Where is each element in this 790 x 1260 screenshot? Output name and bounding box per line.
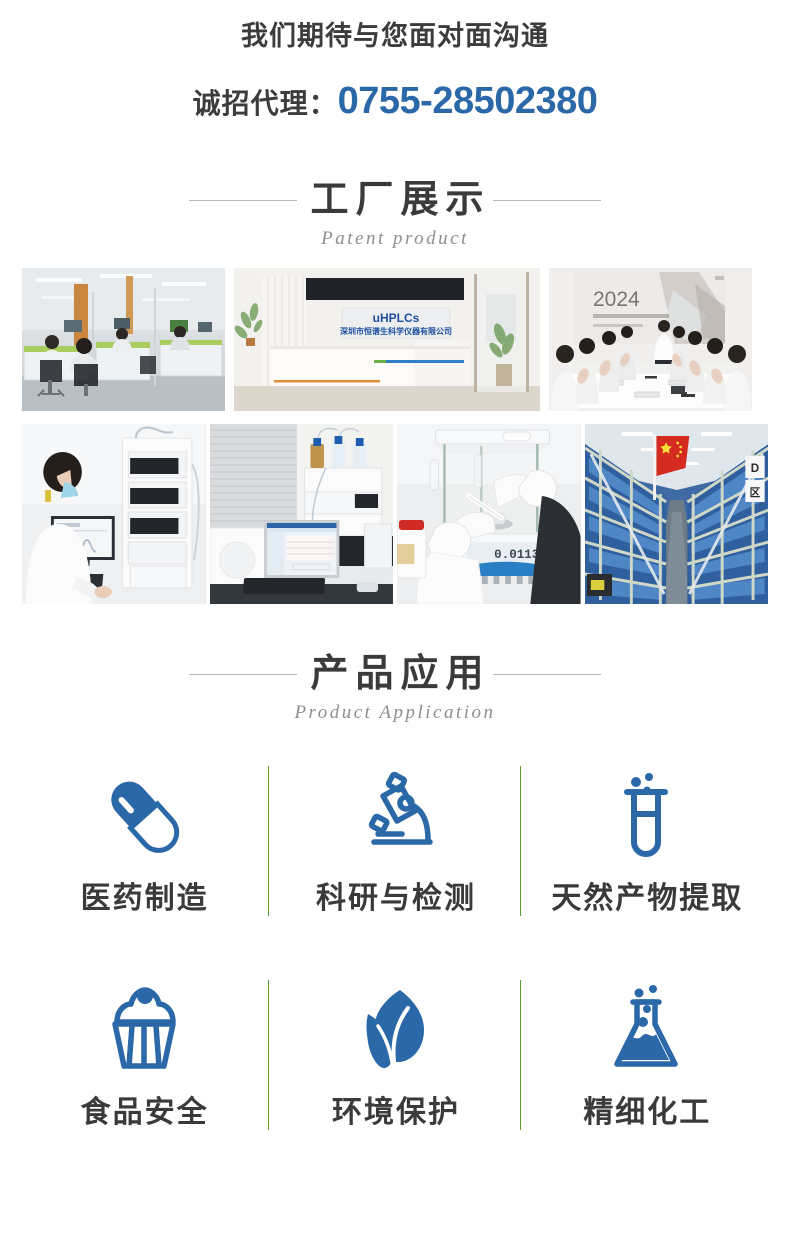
- factory-photo-grid: uHPLCs 深圳市恒谱生科学仪器有限公司: [0, 268, 790, 604]
- app-title-rule-right: [493, 674, 601, 675]
- application-item-natural-extraction[interactable]: 天然产物提取: [521, 760, 772, 918]
- application-item-fine-chemicals[interactable]: 精细化工: [521, 974, 772, 1132]
- photo-technician-operating-hplc-system[interactable]: [22, 424, 206, 604]
- title-rule-right: [493, 200, 601, 201]
- photo-hplc-workstation-with-monitor[interactable]: [210, 424, 394, 604]
- application-item-pharmaceutical[interactable]: 医药制造: [18, 760, 269, 918]
- application-item-food-safety[interactable]: 食品安全: [18, 974, 269, 1132]
- factory-title-cn: 工厂展示: [303, 176, 490, 224]
- application-section-title: 产品应用 Product Application: [0, 650, 790, 724]
- application-grid: 医药制造: [0, 760, 790, 1132]
- factory-title-en: Patent product: [0, 228, 790, 250]
- photo-company-reception-lobby[interactable]: uHPLCs 深圳市恒谱生科学仪器有限公司: [234, 268, 540, 411]
- phone-number[interactable]: 0755-28502380: [338, 80, 598, 122]
- photo-conference-room-meeting-2024[interactable]: 2024: [549, 268, 752, 411]
- photo-analytical-balance-weighing[interactable]: 0.0113: [397, 424, 581, 604]
- leaf-icon: [269, 982, 520, 1078]
- application-label: 医药制造: [18, 880, 269, 918]
- page-root: 我们期待与您面对面沟通 诚招代理：0755-28502380 工厂展示 Pate…: [0, 0, 790, 1260]
- application-row-1: 医药制造: [18, 760, 772, 918]
- application-item-environmental-protection[interactable]: 环境保护: [269, 974, 520, 1132]
- svg-text:0.0113: 0.0113: [494, 547, 539, 562]
- svg-text:uHPLCs: uHPLCs: [373, 311, 420, 325]
- photo-row-1: uHPLCs 深圳市恒谱生科学仪器有限公司: [22, 268, 768, 411]
- svg-text:区: 区: [749, 486, 760, 499]
- header: 我们期待与您面对面沟通 诚招代理：0755-28502380: [0, 0, 790, 132]
- agent-recruit-label: 诚招代理：: [193, 88, 338, 119]
- factory-section-title: 工厂展示 Patent product: [0, 176, 790, 250]
- header-contact-line: 诚招代理：0755-28502380: [0, 78, 790, 132]
- application-title-en: Product Application: [0, 702, 790, 724]
- application-label: 精细化工: [521, 1094, 772, 1132]
- erlenmeyer-flask-icon: [521, 982, 772, 1078]
- title-rule-left: [189, 200, 297, 201]
- photo-open-plan-office-workstations[interactable]: [22, 268, 225, 411]
- header-tagline: 我们期待与您面对面沟通: [0, 16, 790, 56]
- app-title-rule-left: [189, 674, 297, 675]
- cupcake-icon: [18, 982, 269, 1078]
- application-row-2: 食品安全 环境保护: [18, 974, 772, 1132]
- photo-row-2: 0.0113: [22, 424, 768, 604]
- photo-warehouse-blue-bin-racking[interactable]: D 区: [585, 424, 769, 604]
- test-tube-icon: [521, 768, 772, 864]
- application-item-research-testing[interactable]: 科研与检测: [269, 760, 520, 918]
- capsule-pill-icon: [18, 768, 269, 864]
- application-label: 科研与检测: [269, 880, 520, 918]
- microscope-icon: [269, 768, 520, 864]
- svg-text:D: D: [750, 462, 759, 475]
- svg-text:2024: 2024: [593, 288, 640, 311]
- svg-text:深圳市恒谱生科学仪器有限公司: 深圳市恒谱生科学仪器有限公司: [340, 326, 452, 336]
- application-label: 天然产物提取: [521, 880, 772, 918]
- application-label: 食品安全: [18, 1094, 269, 1132]
- application-title-cn: 产品应用: [303, 650, 490, 698]
- application-label: 环境保护: [269, 1094, 520, 1132]
